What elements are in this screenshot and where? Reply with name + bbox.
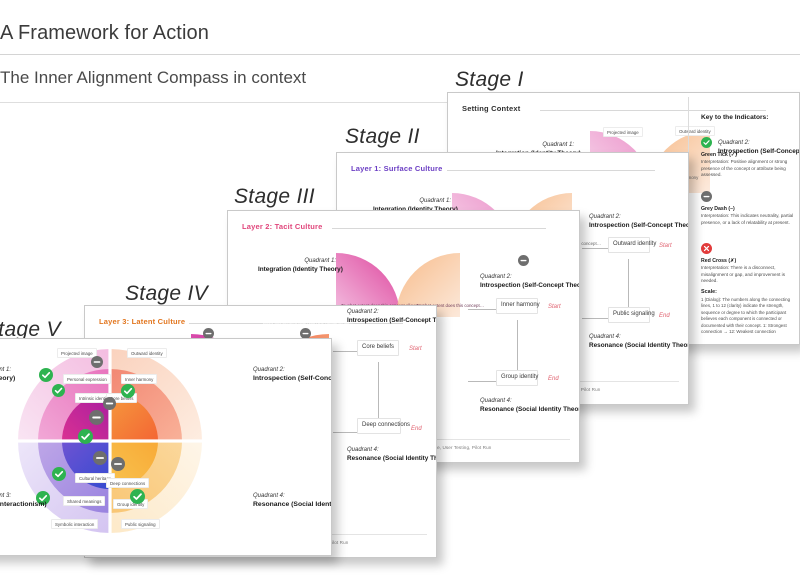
start-marker: Start: [409, 346, 422, 352]
quadrant-3-name: Expression (Symbolic Interactionism): [0, 501, 47, 508]
layer-divider: [332, 228, 546, 229]
inner-alignment-compass: [0, 343, 245, 539]
stage-label-4: Stage IV: [125, 282, 208, 306]
end-marker: End: [659, 313, 670, 319]
key-item-desc-grey: Interpretation: This indicates neutralit…: [701, 213, 797, 226]
page-subtitle: The Inner Alignment Compass in context: [0, 68, 800, 88]
start-marker: Start: [548, 304, 561, 310]
quadrant-2-name: Introspection (Self-Concept Theory): [253, 375, 332, 382]
layer-divider: [540, 110, 766, 111]
quadrant-label-2: Quadrant 2: Introspection (Self-Concept …: [253, 365, 329, 383]
quadrant-1-name: Integration (Identity Theory): [0, 375, 15, 382]
green-tick-icon[interactable]: [39, 368, 53, 382]
key-item-desc-green: Interpretation: Positive alignment or st…: [701, 159, 797, 179]
ring-label-outward-identity: Outward identity: [675, 126, 715, 136]
quadrant-2-number: Quadrant 2:: [589, 214, 621, 220]
node-inner-harmony[interactable]: Inner harmony: [496, 298, 538, 314]
quadrant-4-number: Quadrant 4:: [253, 493, 285, 499]
key-scale-title: Scale:: [701, 289, 717, 295]
ring-label-projected-image: Projected image: [603, 127, 643, 137]
quadrant-4-number: Quadrant 4:: [347, 447, 379, 453]
quadrant-1-name: Integration (Identity Theory): [258, 266, 343, 273]
quadrant-2-number: Quadrant 2:: [718, 140, 750, 146]
ring-label-symbolic-interaction[interactable]: Symbolic interaction: [51, 519, 98, 529]
quadrant-4-number: Quadrant 4:: [589, 334, 621, 340]
quadrant-label-2: Quadrant 2: Introspection (Self-Concept …: [589, 213, 673, 230]
ring-label-inner-harmony[interactable]: Inner harmony: [121, 374, 157, 384]
layer-heading-stage-1: Setting Context: [462, 104, 520, 113]
node-outward-identity[interactable]: Outward identity: [608, 237, 650, 253]
key-item-name-green: Green Tick (✓): [701, 152, 737, 158]
stage-label-3: Stage III: [234, 185, 315, 209]
quadrant-label-1: Quadrant 1: Integration (Identity Theory…: [0, 365, 11, 383]
page-title: A Framework for Action: [0, 22, 800, 45]
quadrant-label-2: Quadrant 2: Introspection (Self-Concept …: [480, 273, 564, 290]
key-title: Key to the Indicators:: [701, 114, 768, 121]
ring-label-shared-meanings[interactable]: Shared meanings: [63, 496, 105, 506]
stage-label-2: Stage II: [345, 125, 420, 149]
quadrant-4-name: Resonance (Social Identity Theory): [347, 455, 437, 462]
quadrant-2-number: Quadrant 2:: [347, 309, 379, 315]
quadrant-4-name: Resonance (Social Identity Theory): [253, 501, 332, 508]
ring-label-personal-expression[interactable]: Personal expression: [63, 374, 111, 384]
quadrant-2-number: Quadrant 2:: [480, 274, 512, 280]
slide-panel-stage-5[interactable]: Projected image Personal expression Intr…: [0, 338, 332, 556]
layer-divider: [447, 170, 655, 171]
node-deep-connections[interactable]: Deep connections: [357, 418, 401, 434]
quadrant-3-number: Quadrant 3:: [0, 493, 11, 499]
green-tick-icon[interactable]: [78, 429, 93, 444]
node-group-identity[interactable]: Group identity: [496, 370, 538, 386]
quadrant-label-4: Quadrant 4: Resonance (Social Identity T…: [480, 397, 564, 414]
quadrant-1-number: Quadrant 1:: [304, 258, 336, 264]
quadrant-label-3: Quadrant 3: Expression (Symbolic Interac…: [0, 491, 11, 509]
end-marker: End: [548, 376, 559, 382]
quadrant-4-number: Quadrant 4:: [480, 398, 512, 404]
layer-heading-stage-2: Layer 1: Surface Culture: [351, 164, 443, 173]
layer-heading-stage-4: Layer 3: Latent Culture: [99, 317, 185, 326]
key-scale-body: 1 (Dialog): The numbers along the connec…: [701, 297, 797, 335]
node-core-beliefs[interactable]: Core beliefs: [357, 340, 399, 356]
grey-dash-icon[interactable]: [91, 356, 103, 368]
end-marker: End: [411, 426, 422, 432]
heading-divider: [0, 54, 800, 55]
quadrant-2-name: Introspection (Self-Concept Theory): [347, 317, 437, 324]
layer-heading-stage-3: Layer 2: Tacit Culture: [242, 222, 323, 231]
quadrant-1-number: Quadrant 1:: [0, 367, 11, 373]
quadrant-2-number: Quadrant 2:: [253, 367, 285, 373]
green-tick-icon[interactable]: [52, 384, 65, 397]
quadrant-label-4: Quadrant 4: Resonance (Social Identity T…: [347, 446, 431, 463]
grey-dash-icon: [701, 191, 712, 202]
grey-dash-icon: [518, 255, 529, 266]
key-item-name-red: Red Cross (✗): [701, 258, 736, 264]
ring-label-deep-connections[interactable]: Deep connections: [106, 478, 149, 488]
connector-line: [628, 259, 629, 309]
key-item-name-grey: Grey Dash (–): [701, 206, 735, 212]
key-item-desc-red: Interpretation: There is a disconnect, m…: [701, 265, 797, 285]
quadrant-label-1: Quadrant 1: Integration (Identity Theory…: [258, 257, 336, 274]
green-tick-icon: [701, 137, 712, 148]
ring-label-outward-identity[interactable]: Outward identity: [127, 348, 167, 358]
quadrant-2-name: Introspection (Self-Concept Theory): [589, 222, 689, 229]
page-heading: A Framework for Action The Inner Alignme…: [0, 22, 800, 103]
start-marker: Start: [659, 243, 672, 249]
node-public-signaling[interactable]: Public signaling: [608, 307, 650, 323]
green-tick-icon[interactable]: [130, 489, 145, 504]
quadrant-1-number: Quadrant 1:: [419, 198, 451, 204]
petal-caption-right: Does this present align with the fundame…: [263, 320, 354, 326]
grey-dash-icon[interactable]: [103, 397, 116, 410]
stage-label-1: Stage I: [455, 68, 524, 92]
quadrant-1-number: Quadrant 1:: [542, 142, 574, 148]
grey-dash-icon[interactable]: [89, 410, 104, 425]
quadrant-label-4: Quadrant 4: Resonance (Social Identity T…: [253, 491, 329, 509]
ring-label-public-signaling[interactable]: Public signaling: [121, 519, 160, 529]
green-tick-icon[interactable]: [121, 384, 135, 398]
quadrant-2-name: Introspection (Self-Concept Theory): [480, 282, 580, 289]
connector-line: [378, 362, 379, 424]
grey-dash-icon[interactable]: [111, 457, 125, 471]
quadrant-4-name: Resonance (Social Identity Theory): [589, 342, 689, 349]
red-cross-icon: [701, 243, 712, 254]
quadrant-label-4: Quadrant 4: Resonance (Social Identity T…: [589, 333, 673, 350]
quadrant-4-name: Resonance (Social Identity Theory): [480, 406, 580, 413]
grey-dash-icon[interactable]: [93, 451, 107, 465]
quadrant-label-2: Quadrant 2: Introspection (Self-Concept …: [347, 308, 431, 325]
green-tick-icon[interactable]: [52, 467, 66, 481]
connector-line: [517, 320, 518, 372]
